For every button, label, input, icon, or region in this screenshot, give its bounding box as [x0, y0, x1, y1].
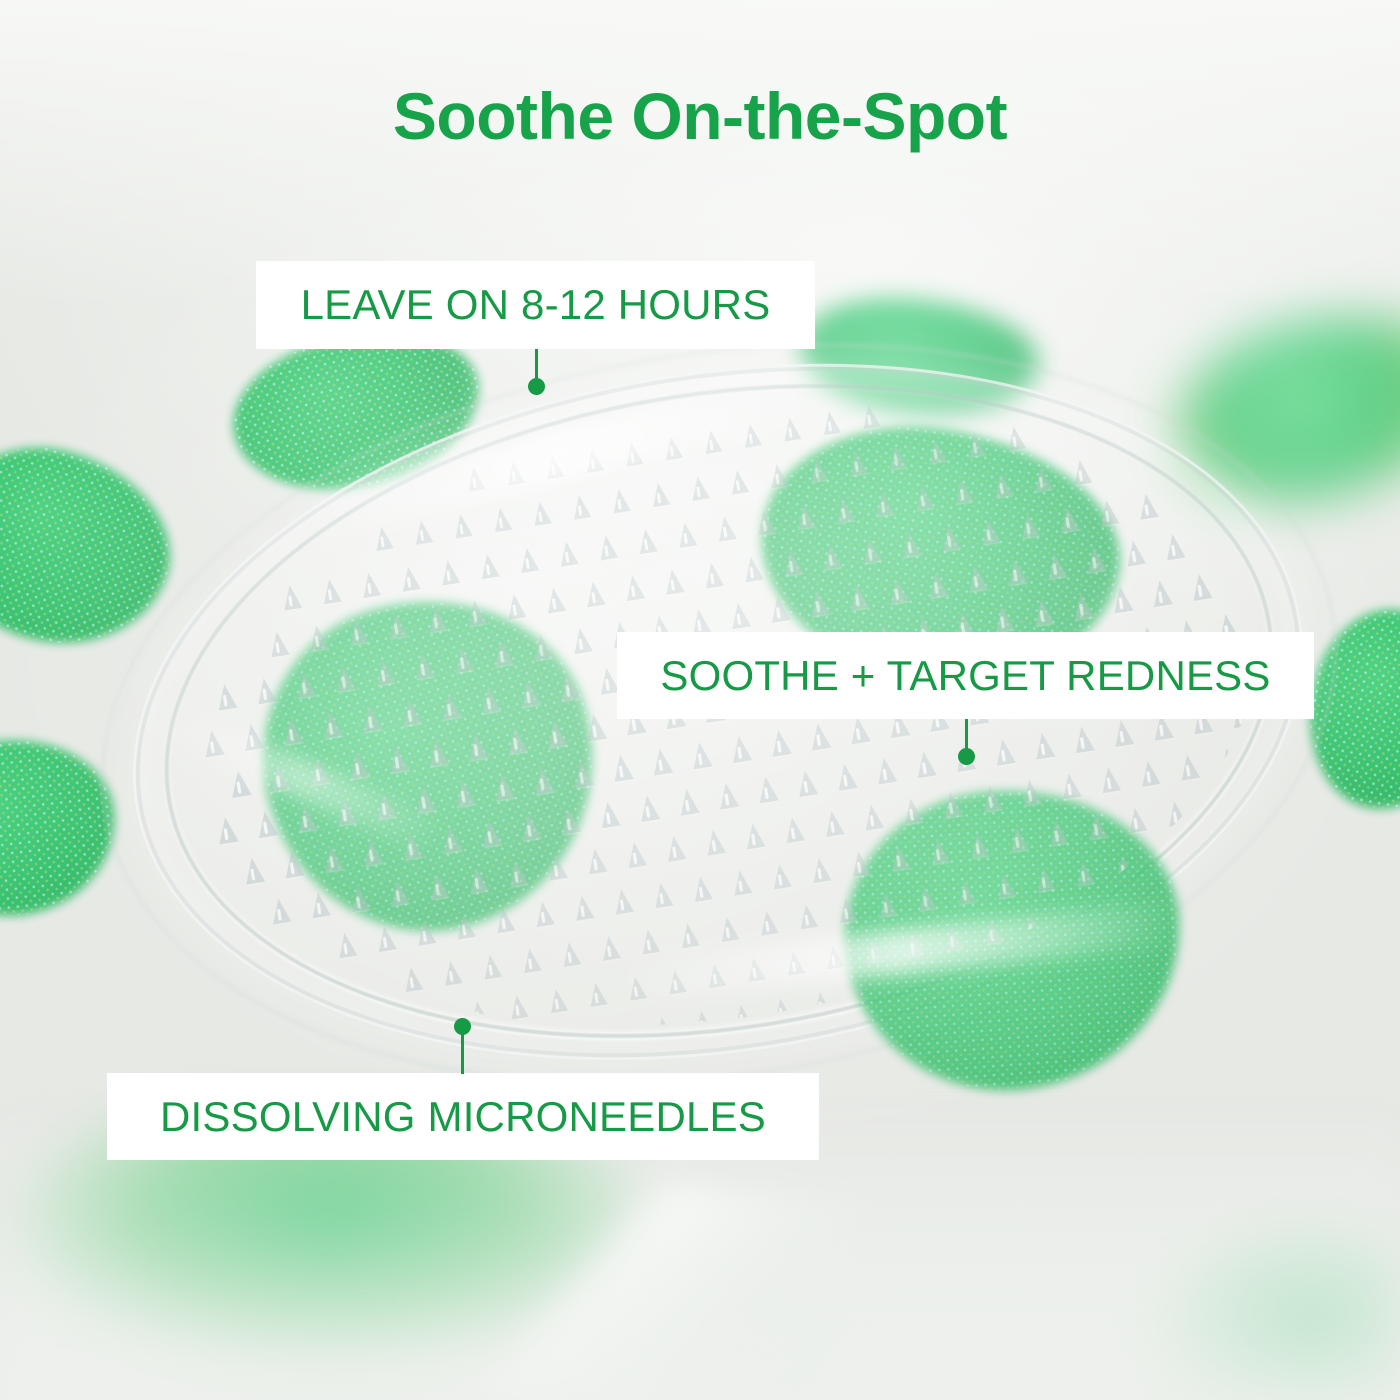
- callout-dissolving-microneedles: DISSOLVING MICRONEEDLES: [107, 1073, 819, 1160]
- callout-leader-line: [535, 349, 538, 381]
- callout-leader-dot: [528, 378, 545, 395]
- callout-leave-on: LEAVE ON 8-12 HOURS: [256, 261, 815, 349]
- callout-soothe-target-redness: SOOTHE + TARGET REDNESS: [617, 632, 1314, 719]
- page-title: Soothe On-the-Spot: [0, 78, 1400, 154]
- callout-leader-line: [461, 1034, 464, 1074]
- callout-leader-line: [965, 719, 968, 749]
- callout-leader-dot: [454, 1018, 471, 1035]
- callout-leader-dot: [958, 748, 975, 765]
- product-feature-graphic: Soothe On-the-Spot LEAVE ON 8-12 HOURS S…: [0, 0, 1400, 1400]
